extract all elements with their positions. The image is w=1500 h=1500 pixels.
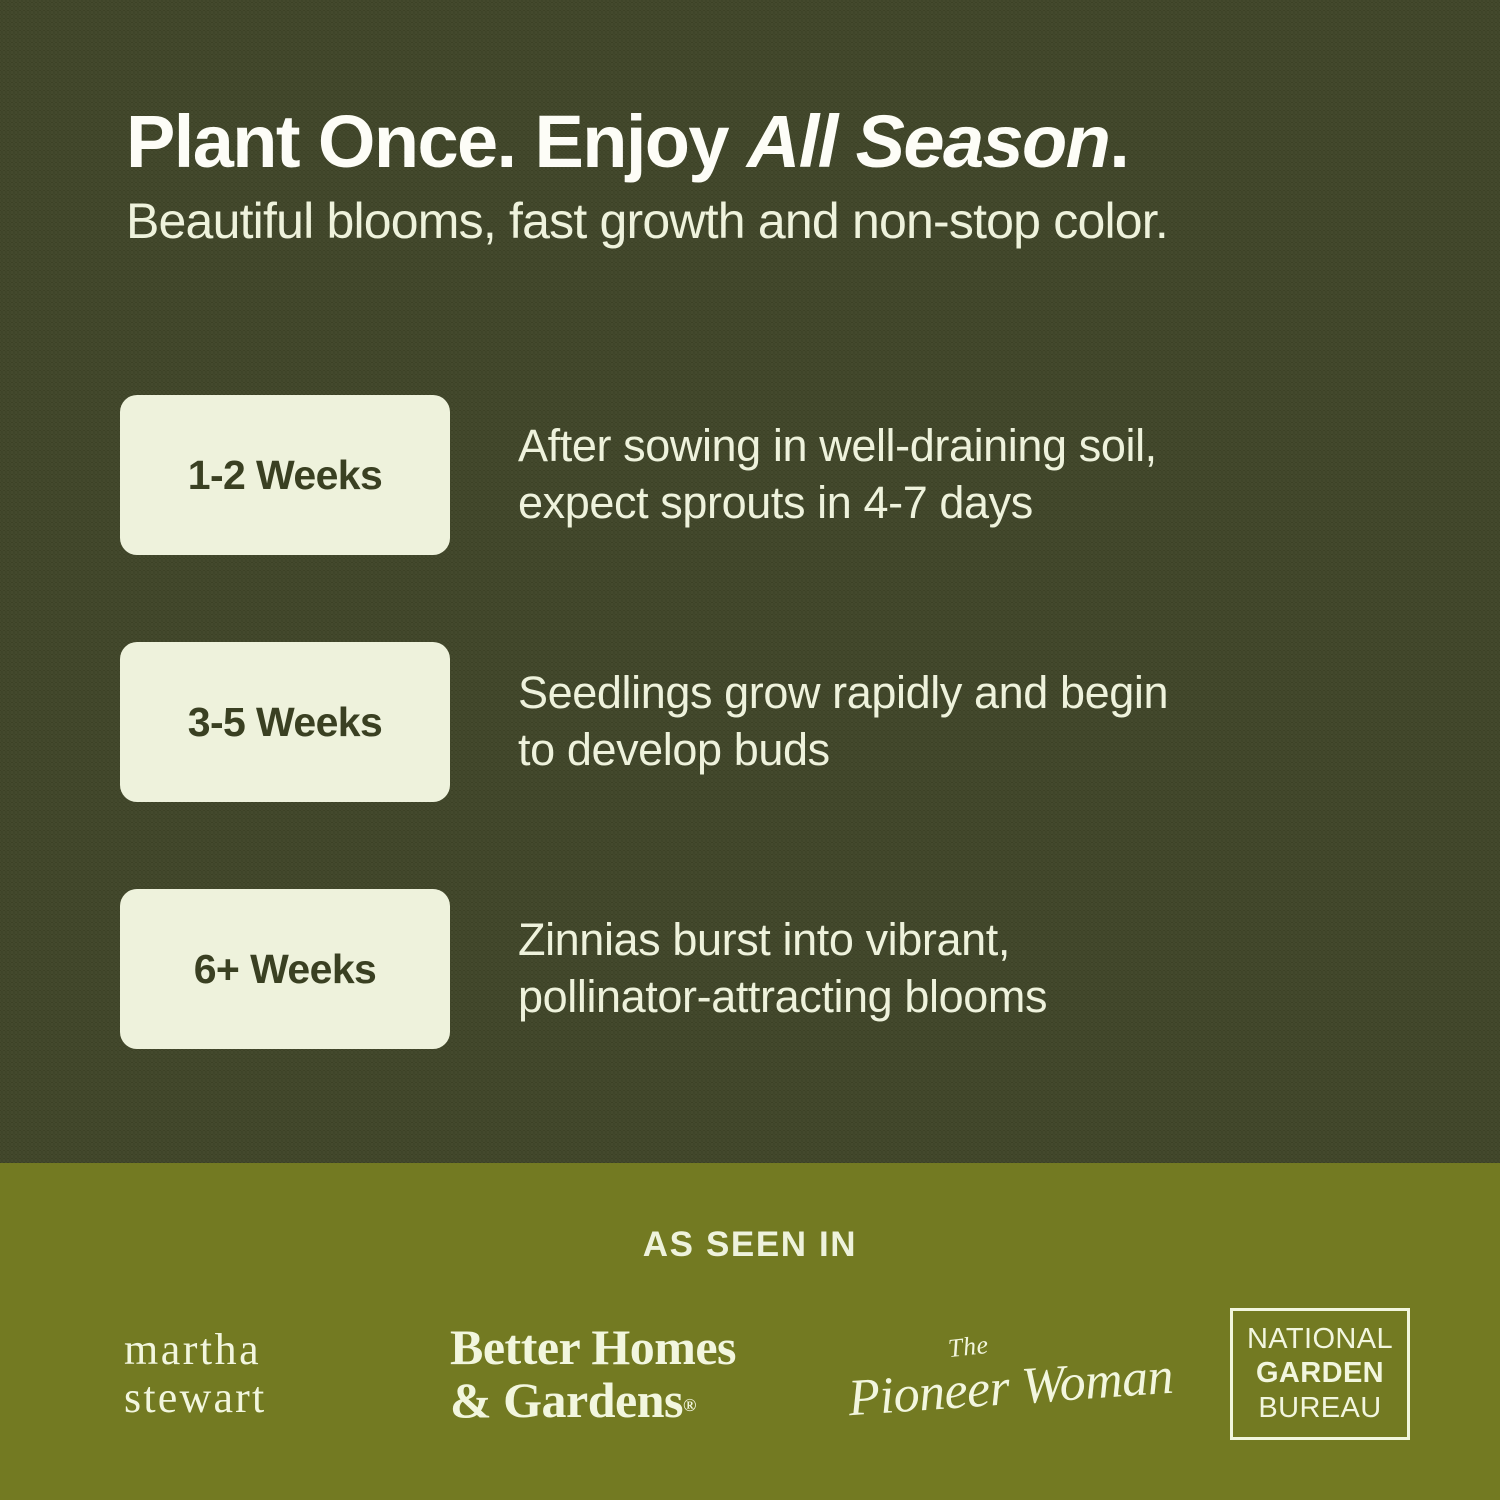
headline-part-two: . — [1109, 100, 1128, 183]
stage-description-line: Zinnias burst into vibrant, — [518, 912, 1410, 969]
logo-martha-stewart: martha stewart — [90, 1326, 390, 1420]
logo-line: stewart — [124, 1374, 390, 1421]
stage-badge-1: 1-2 Weeks — [120, 395, 450, 555]
stage-badge-2: 3-5 Weeks — [120, 642, 450, 802]
page-title: Plant Once. Enjoy All Season. — [126, 104, 1396, 180]
stage-description-line: Seedlings grow rapidly and begin — [518, 665, 1410, 722]
logo-better-homes-and-gardens: Better Homes & Gardens® — [450, 1321, 780, 1427]
as-seen-in-band: AS SEEN IN martha stewart Better Homes &… — [0, 1163, 1500, 1500]
timeline-row: 1-2 Weeks After sowing in well-draining … — [120, 395, 1410, 555]
logo-line: BUREAU — [1258, 1391, 1381, 1425]
infographic-root: Plant Once. Enjoy All Season. Beautiful … — [0, 0, 1500, 1500]
timeline-row: 3-5 Weeks Seedlings grow rapidly and beg… — [120, 642, 1410, 802]
registered-trademark-icon: ® — [683, 1395, 696, 1415]
logo-the-pioneer-woman: The Pioneer Woman — [840, 1314, 1170, 1434]
page-subtitle: Beautiful blooms, fast growth and non-st… — [126, 194, 1396, 249]
headline-emphasis: All Season — [747, 100, 1109, 183]
stage-description-line: to develop buds — [518, 722, 1410, 779]
as-seen-in-heading: AS SEEN IN — [0, 1225, 1500, 1265]
press-logo-row: martha stewart Better Homes & Gardens® T… — [90, 1291, 1410, 1456]
stage-description-1: After sowing in well-draining soil, expe… — [518, 418, 1410, 531]
header-block: Plant Once. Enjoy All Season. Beautiful … — [126, 104, 1396, 249]
stage-description-line: expect sprouts in 4-7 days — [518, 475, 1410, 532]
growth-timeline-list: 1-2 Weeks After sowing in well-draining … — [120, 395, 1410, 1049]
logo-line: NATIONAL — [1247, 1322, 1393, 1356]
stage-description-2: Seedlings grow rapidly and begin to deve… — [518, 665, 1410, 778]
logo-line: Pioneer Woman — [846, 1346, 1175, 1428]
logo-line-text: & Gardens — [450, 1372, 683, 1428]
stage-description-line: pollinator-attracting blooms — [518, 969, 1410, 1026]
logo-national-garden-bureau: NATIONAL GARDEN BUREAU — [1230, 1308, 1410, 1440]
stage-description-line: After sowing in well-draining soil, — [518, 418, 1410, 475]
logo-line: The — [947, 1329, 990, 1363]
stage-description-3: Zinnias burst into vibrant, pollinator-a… — [518, 912, 1410, 1025]
logo-line: Better Homes — [450, 1321, 780, 1374]
stage-badge-label: 1-2 Weeks — [188, 452, 382, 499]
headline-part-one: Plant Once. Enjoy — [126, 100, 747, 183]
stage-badge-label: 6+ Weeks — [194, 946, 377, 993]
stage-badge-3: 6+ Weeks — [120, 889, 450, 1049]
logo-line: GARDEN — [1256, 1356, 1384, 1390]
logo-line: & Gardens® — [450, 1374, 780, 1427]
stage-badge-label: 3-5 Weeks — [188, 699, 382, 746]
timeline-row: 6+ Weeks Zinnias burst into vibrant, pol… — [120, 889, 1410, 1049]
logo-line: martha — [124, 1326, 390, 1373]
